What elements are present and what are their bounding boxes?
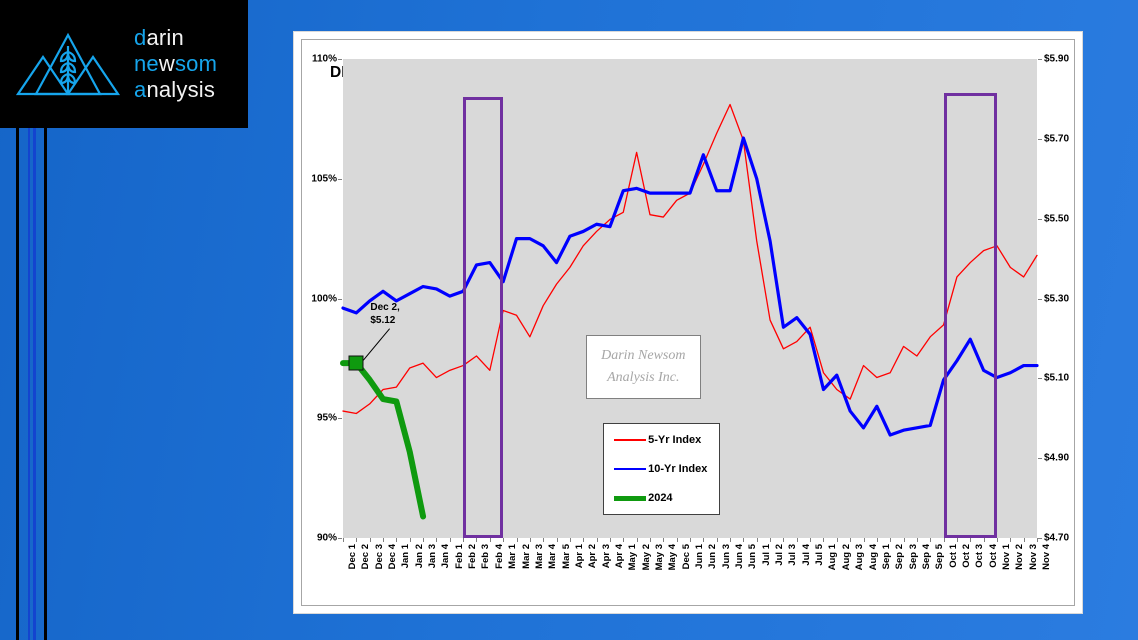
x-tick (797, 538, 798, 542)
y-left-tick (338, 538, 342, 539)
x-tick-label: Aug 1 (827, 544, 838, 570)
x-tick (610, 538, 611, 542)
x-tick (463, 538, 464, 542)
logo-a: a (134, 77, 146, 102)
y-right-tick-label: $5.50 (1044, 213, 1069, 224)
x-tick-label: Feb 1 (454, 544, 465, 569)
y-left-tick (338, 299, 342, 300)
x-tick-label: Jun 4 (734, 544, 745, 569)
x-tick (450, 538, 451, 542)
x-tick-label: Jul 2 (774, 544, 785, 566)
x-tick-label: Mar 5 (561, 544, 572, 569)
x-tick (570, 538, 571, 542)
logo-arin: arin (146, 25, 184, 50)
legend-label: 2024 (648, 492, 672, 504)
y-right-tick-label: $5.70 (1044, 133, 1069, 144)
x-tick-label: Apr 1 (574, 544, 585, 568)
x-tick-label: Feb 4 (494, 544, 505, 569)
x-tick-label: Dec 5 (681, 544, 692, 569)
logo-som: som (175, 51, 217, 76)
logo-w: w (159, 51, 175, 76)
x-tick (677, 538, 678, 542)
x-tick-label: Dec 4 (387, 544, 398, 569)
x-tick (984, 538, 985, 542)
x-tick (1037, 538, 1038, 542)
x-tick-label: Jun 1 (694, 544, 705, 569)
y-right-tick-label: $4.70 (1044, 533, 1069, 544)
x-tick-label: Mar 1 (507, 544, 518, 569)
x-tick (810, 538, 811, 542)
decorative-stripe-3 (33, 128, 36, 640)
x-tick-label: Sep 5 (934, 544, 945, 569)
y-right-tick-label: $5.90 (1044, 54, 1069, 65)
y-left-tick-label: 95% (317, 413, 337, 424)
x-tick (770, 538, 771, 542)
brand-logo-block: darin newsom analysis (0, 0, 248, 128)
x-tick (944, 538, 945, 542)
legend-swatch (614, 439, 646, 441)
y-left-tick-label: 100% (311, 293, 337, 304)
x-tick (717, 538, 718, 542)
oct-highlight (944, 93, 997, 538)
y-left-tick (338, 59, 342, 60)
x-tick (356, 538, 357, 542)
x-tick (997, 538, 998, 542)
x-tick (730, 538, 731, 542)
x-tick-label: Aug 2 (841, 544, 852, 570)
y-right-tick (1038, 219, 1042, 220)
x-tick (957, 538, 958, 542)
y-left-tick-label: 105% (311, 173, 337, 184)
x-tick (650, 538, 651, 542)
legend-item-2024: 2024 (614, 492, 707, 504)
x-tick-label: Jul 5 (814, 544, 825, 566)
decorative-stripe-4 (44, 128, 47, 640)
x-tick (890, 538, 891, 542)
x-tick (423, 538, 424, 542)
y-left-tick (338, 418, 342, 419)
y-right-tick (1038, 458, 1042, 459)
x-tick (436, 538, 437, 542)
x-tick (543, 538, 544, 542)
y-right-tick (1038, 378, 1042, 379)
x-tick (530, 538, 531, 542)
logo-d: d (134, 25, 146, 50)
x-tick (904, 538, 905, 542)
chart-slide-frame: DEC CORN SEASONAL STUDY 90%95%100%105%11… (293, 31, 1083, 614)
x-tick (597, 538, 598, 542)
x-tick-label: Oct 3 (974, 544, 985, 568)
x-tick-label: Nov 4 (1041, 544, 1052, 570)
y-right-tick-label: $5.30 (1044, 293, 1069, 304)
logo-nalysis: nalysis (146, 77, 215, 102)
x-tick (970, 538, 971, 542)
x-tick (757, 538, 758, 542)
x-tick (877, 538, 878, 542)
x-tick-label: Dec 3 (374, 544, 385, 569)
x-tick (823, 538, 824, 542)
legend-label: 5-Yr Index (648, 434, 701, 446)
chart-container: DEC CORN SEASONAL STUDY 90%95%100%105%11… (301, 39, 1075, 606)
x-tick (503, 538, 504, 542)
x-tick (837, 538, 838, 542)
x-tick (517, 538, 518, 542)
x-tick-label: Jan 2 (414, 544, 425, 568)
x-tick (623, 538, 624, 542)
x-tick-label: Oct 1 (948, 544, 959, 568)
x-tick (690, 538, 691, 542)
legend-item-10-yr-index: 10-Yr Index (614, 463, 707, 475)
x-tick-label: Jun 5 (747, 544, 758, 569)
x-tick-label: Sep 2 (894, 544, 905, 569)
x-tick (783, 538, 784, 542)
x-tick (1010, 538, 1011, 542)
x-tick (396, 538, 397, 542)
callout-line-1: Dec 2, (370, 301, 399, 314)
x-tick (703, 538, 704, 542)
x-tick (370, 538, 371, 542)
chart-legend: 5-Yr Index10-Yr Index2024 (603, 423, 720, 515)
x-tick-label: May 4 (667, 544, 678, 570)
x-tick-label: Jul 3 (787, 544, 798, 566)
y-left-tick (338, 179, 342, 180)
x-tick-label: Mar 2 (521, 544, 532, 569)
legend-label: 10-Yr Index (648, 463, 707, 475)
x-tick-label: Apr 4 (614, 544, 625, 568)
dec2-price-callout: Dec 2,$5.12 (370, 301, 399, 327)
x-tick-label: Apr 3 (601, 544, 612, 568)
x-tick (343, 538, 344, 542)
callout-leader-line (363, 329, 389, 361)
y-right-tick (1038, 139, 1042, 140)
x-tick-label: Oct 4 (988, 544, 999, 568)
brand-logo-text: darin newsom analysis (134, 25, 217, 103)
x-tick-label: Jun 3 (721, 544, 732, 569)
x-tick-label: Aug 3 (854, 544, 865, 570)
x-tick (663, 538, 664, 542)
x-tick-label: Sep 4 (921, 544, 932, 569)
x-tick-label: Dec 1 (347, 544, 358, 569)
decorative-stripe-1 (16, 128, 19, 640)
x-tick-label: Aug 4 (868, 544, 879, 570)
x-tick (557, 538, 558, 542)
feb-mar-highlight (463, 97, 503, 538)
x-tick-label: Jan 1 (400, 544, 411, 568)
x-tick-label: Mar 3 (534, 544, 545, 569)
x-tick (743, 538, 744, 542)
watermark-line-2: Analysis Inc. (601, 367, 685, 389)
x-tick (864, 538, 865, 542)
y-right-tick-label: $5.10 (1044, 373, 1069, 384)
legend-item-5-yr-index: 5-Yr Index (614, 434, 707, 446)
legend-swatch (614, 496, 646, 501)
x-tick-label: Oct 2 (961, 544, 972, 568)
x-tick-label: Jul 1 (761, 544, 772, 566)
y-left-tick-label: 90% (317, 533, 337, 544)
y-right-tick-label: $4.90 (1044, 453, 1069, 464)
y-right-tick (1038, 538, 1042, 539)
x-tick (490, 538, 491, 542)
legend-swatch (614, 468, 646, 470)
x-tick-label: Feb 2 (467, 544, 478, 569)
x-tick (1024, 538, 1025, 542)
x-tick (410, 538, 411, 542)
x-tick-label: Jan 3 (427, 544, 438, 568)
x-tick-label: Apr 2 (587, 544, 598, 568)
y-right-tick (1038, 59, 1042, 60)
x-tick-label: Jun 2 (707, 544, 718, 569)
watermark-box: Darin Newsom Analysis Inc. (586, 335, 700, 399)
x-tick-label: May 3 (654, 544, 665, 570)
x-tick-label: Jan 4 (440, 544, 451, 568)
logo-ne: ne (134, 51, 159, 76)
logo-line-darin: darin (134, 25, 217, 51)
x-tick-label: Nov 2 (1014, 544, 1025, 570)
x-tick (850, 538, 851, 542)
x-tick-label: Feb 3 (480, 544, 491, 569)
series-line-2024 (343, 363, 423, 516)
callout-line-2: $5.12 (370, 314, 399, 327)
x-tick (476, 538, 477, 542)
decorative-stripe-2 (28, 128, 30, 640)
x-tick-label: Mar 4 (547, 544, 558, 569)
y-left-tick-label: 110% (312, 54, 337, 65)
x-tick-label: May 1 (627, 544, 638, 570)
x-tick (583, 538, 584, 542)
x-tick-label: Nov 1 (1001, 544, 1012, 570)
logo-line-analysis: analysis (134, 77, 217, 103)
three-mountains-wheat-icon (12, 24, 124, 104)
x-tick (930, 538, 931, 542)
x-tick (637, 538, 638, 542)
x-tick-label: Nov 3 (1028, 544, 1039, 570)
x-tick-label: Jul 4 (801, 544, 812, 566)
x-tick (383, 538, 384, 542)
y-right-tick (1038, 299, 1042, 300)
x-tick-label: Sep 1 (881, 544, 892, 569)
x-tick-label: Dec 2 (360, 544, 371, 569)
x-tick (917, 538, 918, 542)
x-tick-label: Sep 3 (908, 544, 919, 569)
x-tick-label: May 2 (641, 544, 652, 570)
logo-line-newsom: newsom (134, 51, 217, 77)
dec2-data-point-marker[interactable] (349, 356, 364, 371)
watermark-line-1: Darin Newsom (601, 345, 685, 367)
